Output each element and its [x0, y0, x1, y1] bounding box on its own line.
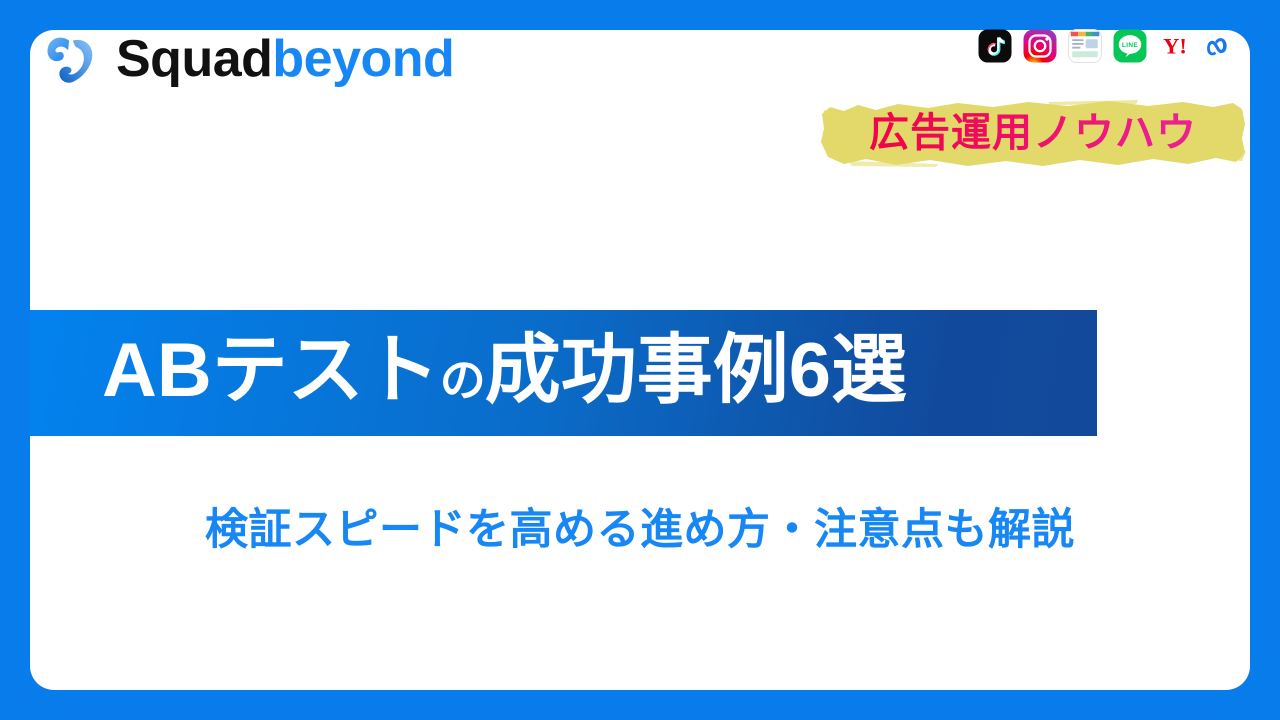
brand-logo: Squadbeyond: [40, 28, 454, 90]
platform-icon-row: LINE Y!: [977, 28, 1238, 64]
page-subtitle: 検証スピードを高める進め方・注意点も解説: [30, 505, 1250, 557]
meta-icon: [1202, 28, 1238, 64]
line-icon: LINE: [1112, 28, 1148, 64]
svg-text:LINE: LINE: [1122, 42, 1138, 49]
title-banner: ABテストの成功事例6選: [30, 310, 1097, 436]
yahoo-icon: Y!: [1157, 28, 1193, 64]
badge-highlight: 広告運用ノウハウ: [818, 98, 1248, 170]
brand-wordmark: Squadbeyond: [116, 33, 454, 85]
slide-root: Squadbeyond: [0, 0, 1280, 720]
instagram-icon: [1022, 28, 1058, 64]
brand-word-beyond: beyond: [272, 30, 454, 88]
svg-text:Y!: Y!: [1163, 34, 1187, 59]
badge-label: 広告運用ノウハウ: [818, 98, 1248, 170]
tiktok-icon: [977, 28, 1013, 64]
page-title: ABテストの成功事例6選: [30, 333, 907, 413]
title-prefix: ABテスト: [102, 328, 440, 413]
title-particle: の: [440, 354, 485, 406]
smartnews-icon: [1067, 28, 1103, 64]
brand-word-squad: Squad: [116, 30, 272, 88]
title-suffix: 成功事例6選: [485, 328, 907, 413]
squad-beyond-logo-mark: [40, 28, 102, 90]
